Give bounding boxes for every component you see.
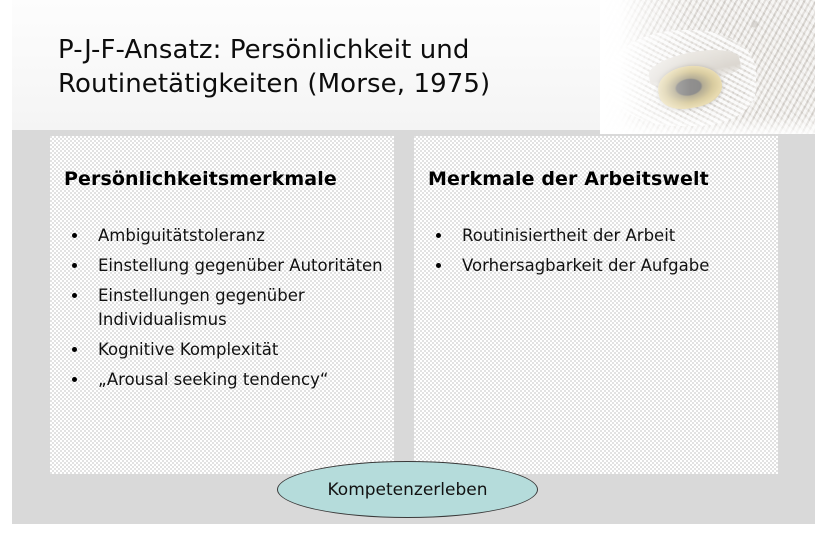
bullet-list-right: Routinisiertheit der Arbeit Vorhersagbar… (422, 224, 772, 284)
list-item: Kognitive Komplexität (58, 338, 388, 362)
list-item: Einstellung gegenüber Autoritäten (58, 254, 388, 278)
bullet-dot-icon (72, 347, 77, 352)
list-item-label: Ambiguitätstoleranz (98, 226, 265, 245)
outcome-oval: Kompetenzerleben (277, 461, 538, 518)
list-item-label: Einstellung gegenüber Autoritäten (98, 256, 383, 275)
bullet-dot-icon (72, 377, 77, 382)
panel-heading-right: Merkmale der Arbeitswelt (428, 168, 770, 190)
list-item-label: Routinisiertheit der Arbeit (462, 226, 675, 245)
panel-personality-traits: Persönlichkeitsmerkmale Ambiguitätstoler… (50, 136, 394, 474)
slide-canvas: P-J-F-Ansatz: Persönlichkeit und Routine… (0, 0, 834, 535)
slide-title: P-J-F-Ansatz: Persönlichkeit und Routine… (58, 33, 618, 101)
owl-photo (600, 0, 815, 134)
owl-eye-icon (600, 0, 815, 134)
list-item-label: Kognitive Komplexität (98, 340, 278, 359)
list-item-label: Vorhersagbarkeit der Aufgabe (462, 256, 709, 275)
list-item: Einstellungen gegenüber Individualismus (58, 284, 388, 332)
list-item: Routinisiertheit der Arbeit (422, 224, 772, 248)
bullet-dot-icon (72, 233, 77, 238)
list-item: Vorhersagbarkeit der Aufgabe (422, 254, 772, 278)
bullet-dot-icon (72, 263, 77, 268)
owl-left-fade (600, 0, 815, 134)
panel-work-characteristics: Merkmale der Arbeitswelt Routinisierthei… (414, 136, 778, 474)
outcome-label: Kompetenzerleben (278, 480, 537, 500)
bullet-dot-icon (436, 233, 441, 238)
bullet-list-left: Ambiguitätstoleranz Einstellung gegenübe… (58, 224, 388, 398)
list-item: „Arousal seeking tendency“ (58, 368, 388, 392)
bullet-dot-icon (72, 293, 77, 298)
bullet-dot-icon (436, 263, 441, 268)
panel-heading-left: Persönlichkeitsmerkmale (64, 168, 386, 190)
owl-bottom-fade (600, 116, 815, 134)
list-item-label: „Arousal seeking tendency“ (98, 370, 328, 389)
list-item-label: Einstellungen gegenüber Individualismus (98, 286, 305, 329)
list-item: Ambiguitätstoleranz (58, 224, 388, 248)
